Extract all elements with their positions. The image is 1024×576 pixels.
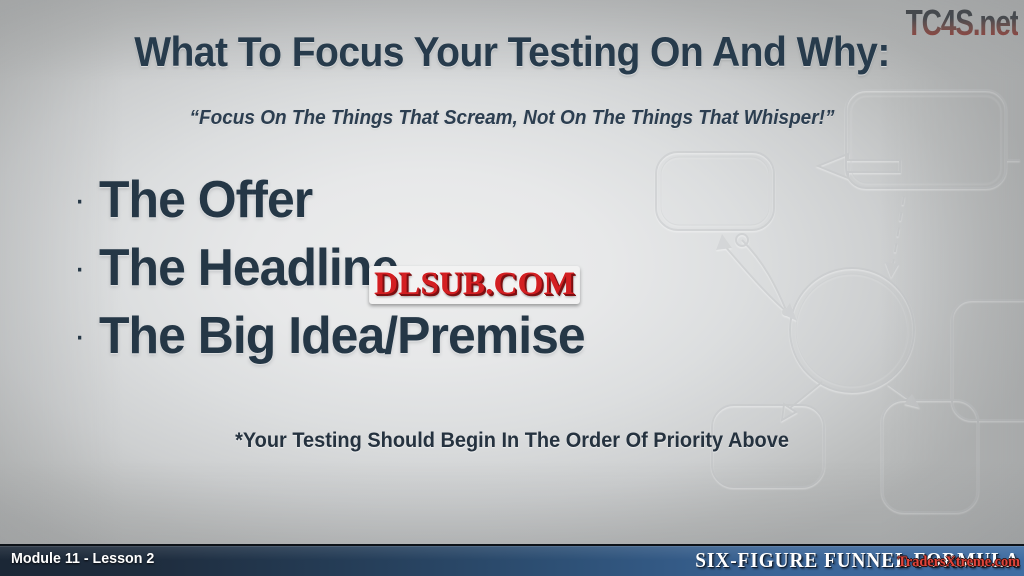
- slide-title: What To Focus Your Testing On And Why:: [36, 28, 988, 76]
- bullet-point-icon: ·: [74, 251, 85, 285]
- slide-subtitle-quote: “Focus On The Things That Scream, Not On…: [26, 107, 999, 130]
- bullet-point-icon: ·: [74, 183, 85, 217]
- watermark-dlsub: DLSUB.COM: [369, 266, 580, 304]
- bullet-label: The Offer: [99, 170, 312, 230]
- list-item: · The Offer: [74, 170, 774, 238]
- bullet-label: The Headline: [99, 238, 398, 298]
- footer-lesson-label: Module 11 - Lesson 2: [11, 550, 154, 567]
- bullet-point-icon: ·: [74, 319, 85, 353]
- slide-canvas: TC4S.net What To Focus Your Testing On A…: [0, 0, 1024, 576]
- bullet-label: The Big Idea/Premise: [99, 306, 585, 366]
- footer-bar: Module 11 - Lesson 2 SIX-FIGURE FUNNEL F…: [0, 544, 1024, 576]
- slide-footnote: *Your Testing Should Begin In The Order …: [26, 429, 999, 453]
- watermark-dlsub-label: DLSUB.COM: [374, 268, 575, 301]
- watermark-tradersxtreme: TradersXtreme.com: [897, 554, 1020, 571]
- list-item: · The Big Idea/Premise: [74, 306, 774, 374]
